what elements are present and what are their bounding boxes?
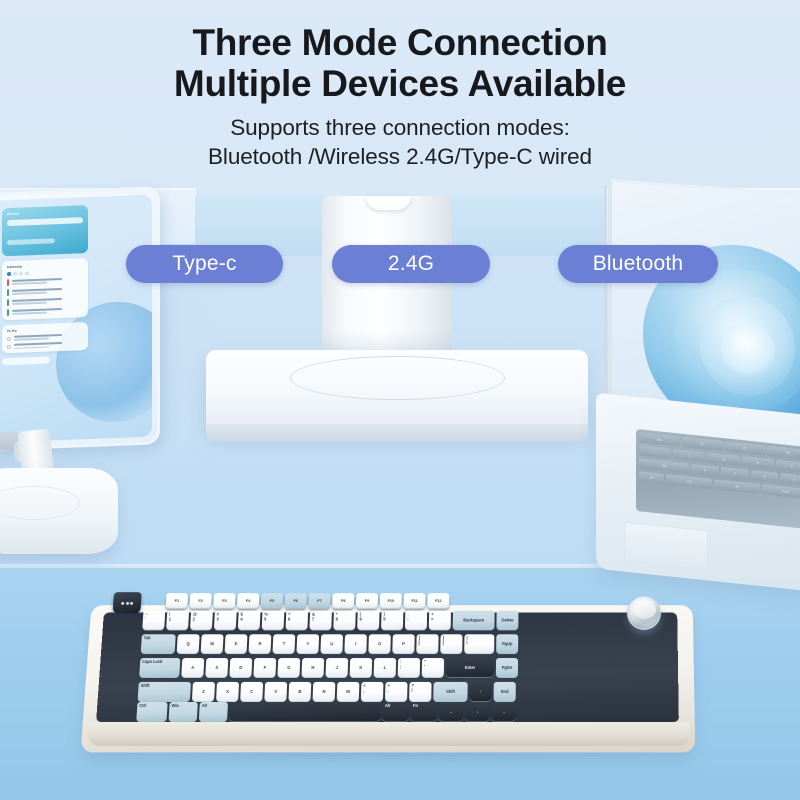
laptop-key[interactable]: Fn [639,471,664,484]
badge-2-4g[interactable]: 2.4G [332,245,490,283]
keycap[interactable]: Tab [141,634,176,654]
keycap[interactable]: Delete [496,611,518,631]
laptop-screen[interactable]: 20:06 2023/5/18 [608,179,800,425]
todo-checkbox[interactable] [7,337,11,341]
keycap[interactable]: Backspace [453,611,495,631]
laptop-key[interactable]: S [751,470,779,483]
keycap[interactable]: S [205,658,228,678]
keycap[interactable]: # 3 [214,611,237,631]
keycap[interactable]: P [392,634,414,654]
keyboard-row-3: Caps LockASDFGHJKL: ;" 'EnterPgDn [139,658,518,678]
keycap[interactable]: < , [361,682,384,702]
keycap[interactable]: F3 [213,593,236,609]
keyboard-row-1: ~ `! 1@ 2# 3$ 4% 5^ 6& 7* 8( 9) 0_ -+ =B… [142,611,518,631]
weather-widget-title: Weather [7,209,83,216]
keycap[interactable]: ← [439,702,464,722]
keycap[interactable]: F1 [165,593,188,609]
escape-key-icon [130,601,133,604]
todo-widget[interactable]: To Do [2,322,88,354]
keycap[interactable]: ↓ [465,702,489,722]
page-title-line2: Multiple Devices Available [0,63,800,104]
keycap[interactable]: Win [168,702,197,722]
keycap[interactable]: X [216,682,239,702]
keycap[interactable]: Shift [433,682,468,702]
keycap[interactable]: V [264,682,287,702]
monitor-base-front [206,424,588,442]
keycap[interactable]: Caps Lock [139,658,180,678]
keyboard-function-row: F1F2F3F4F5F6F7F8F9F10F11F12 [165,593,449,609]
keycap[interactable]: % 5 [262,611,285,631]
keycap[interactable]: L [374,658,397,678]
keycap[interactable]: R [248,634,271,654]
todo-item[interactable] [7,333,83,341]
keyboard-row-5: CtrlWinAltAltFn←↓→ [136,702,515,722]
keycap[interactable]: ^ 6 [285,611,308,631]
event-color-bar [7,309,9,316]
keycap[interactable]: > . [385,682,408,702]
keycap[interactable]: N [313,682,336,702]
keycap[interactable]: D [229,658,252,678]
escape-key[interactable] [113,592,142,613]
keycap[interactable] [229,702,381,722]
keycap[interactable]: ) 0 [381,611,403,631]
keycap[interactable]: F5 [261,593,284,609]
laptop-key[interactable]: ~ [639,445,671,458]
keycap[interactable]: B [288,682,311,702]
keycap[interactable]: J [325,658,348,678]
keycap[interactable]: W [201,634,224,654]
keycap[interactable]: : ; [398,658,421,678]
keycap[interactable]: F10 [380,593,402,609]
volume-knob[interactable] [627,596,661,630]
keycap[interactable]: * 8 [333,611,356,631]
calendar-event-row[interactable] [7,286,83,296]
todo-checkbox[interactable] [7,345,11,349]
keycap[interactable]: & 7 [309,611,332,631]
page-title-line1: Three Mode Connection [0,22,800,63]
keycap[interactable]: PgUp [496,634,518,654]
badge-type-c[interactable]: Type-c [126,245,283,283]
todo-widget-title: To Do [7,326,83,333]
keycap[interactable]: ! 1 [166,611,189,631]
laptop-key[interactable]: Ctrl [666,474,712,489]
escape-key-icon [121,601,124,604]
keyboard-keys[interactable]: F1F2F3F4F5F6F7F8F9F10F11F12~ `! 1@ 2# 3$… [96,609,679,720]
tablet-stand-base [0,468,118,554]
keycap[interactable]: Shift [138,682,191,702]
scene: Weather Calendar [0,0,800,800]
monitor-neck-top [366,196,411,210]
keycap[interactable]: ↑ [469,682,491,702]
keycap[interactable]: End [494,682,516,702]
laptop-key[interactable]: Esc [639,432,680,446]
laptop-key[interactable]: A [691,464,719,477]
todo-item[interactable] [7,341,83,349]
laptop-key[interactable]: 1 [673,449,705,462]
keycap[interactable]: F9 [356,593,378,609]
laptop-key[interactable]: Alt [714,479,760,494]
keycap[interactable]: } ] [440,634,462,654]
keycap[interactable]: ( 9 [357,611,379,631]
keycap[interactable]: K [350,658,373,678]
laptop-key[interactable]: F3 [767,446,800,460]
laptop-lid-edge [604,186,607,422]
tablet-screen[interactable]: Weather Calendar [0,195,152,444]
laptop-key[interactable]: W [742,456,774,469]
tablet-device[interactable]: Weather Calendar [0,186,160,452]
calendar-event-row[interactable] [7,306,83,316]
keycap[interactable]: F2 [189,593,212,609]
headline-block: Three Mode Connection Multiple Devices A… [0,22,800,171]
keycap[interactable]: A [181,658,204,678]
weather-search-bar[interactable] [7,217,83,226]
keycap[interactable]: F [253,658,276,678]
keycap[interactable]: F4 [237,593,260,609]
keycap[interactable]: Z [192,682,215,702]
laptop-key[interactable]: F1 [682,437,723,451]
keycap[interactable]: Alt [382,702,409,722]
keyboard-row-4: ShiftZXCVBNM< ,> .? /Shift↑End [138,682,516,702]
event-color-bar [7,299,9,306]
keycap[interactable]: ~ ` [142,611,165,631]
keycap[interactable]: T [272,634,295,654]
keycap[interactable]: Enter [446,658,494,678]
calendar-event-row[interactable] [7,296,83,306]
keycap[interactable]: Fn [411,702,438,722]
keycap[interactable]: E [225,634,248,654]
keycap[interactable]: PgDn [496,658,518,678]
badge-bluetooth[interactable]: Bluetooth [558,245,718,283]
laptop-key[interactable]: Q [707,452,739,465]
keycap[interactable]: ? / [409,682,432,702]
laptop-key[interactable]: Z [721,467,749,480]
tablet-stand-disc [0,486,80,520]
keycap[interactable]: I [344,634,367,654]
keycap[interactable]: @ 2 [190,611,213,631]
event-color-bar [7,289,9,296]
subtitle-line1: Supports three connection modes: [0,114,800,143]
keycap[interactable]: → [491,702,515,722]
keycap[interactable]: F8 [332,593,354,609]
keycap[interactable]: U [320,634,343,654]
keycap[interactable]: $ 4 [238,611,261,631]
keycap[interactable]: _ - [405,611,427,631]
keycap[interactable]: Q [177,634,200,654]
subtitle-line2: Bluetooth /Wireless 2.4G/Type-C wired [0,143,800,172]
keyboard-row-2: TabQWERTYUIOP{ [} ]| \PgUp [141,634,519,654]
keycap[interactable]: H [301,658,324,678]
keycap[interactable]: " ' [422,658,444,678]
laptop-key[interactable]: Cmd [762,484,800,499]
keycap[interactable]: + = [429,611,451,631]
keycap[interactable]: Ctrl [136,702,167,722]
keycap[interactable]: O [368,634,391,654]
escape-key-icon [126,601,129,604]
keyboard-front-bezel [87,722,690,746]
keycap[interactable]: Y [296,634,319,654]
laptop-key[interactable]: F2 [725,441,766,455]
monitor-base-ring [290,356,505,400]
volume-knob-top [633,600,656,619]
keycap[interactable]: { [ [416,634,438,654]
keycap[interactable]: F6 [284,593,306,609]
monitor-base [206,350,588,432]
laptop-key[interactable]: X [780,473,800,486]
keycap[interactable]: | \ [464,634,494,654]
connection-mode-badges: Type-c 2.4G Bluetooth [0,244,800,286]
add-widgets-button[interactable] [2,357,50,366]
keycap[interactable]: M [337,682,360,702]
keycap[interactable]: F12 [427,593,449,609]
keycap[interactable]: F11 [403,593,425,609]
keycap[interactable]: Alt [199,702,228,722]
keycap[interactable]: F7 [308,593,330,609]
keycap[interactable]: G [277,658,300,678]
keycap[interactable]: C [240,682,263,702]
laptop-key[interactable]: E [776,460,800,473]
